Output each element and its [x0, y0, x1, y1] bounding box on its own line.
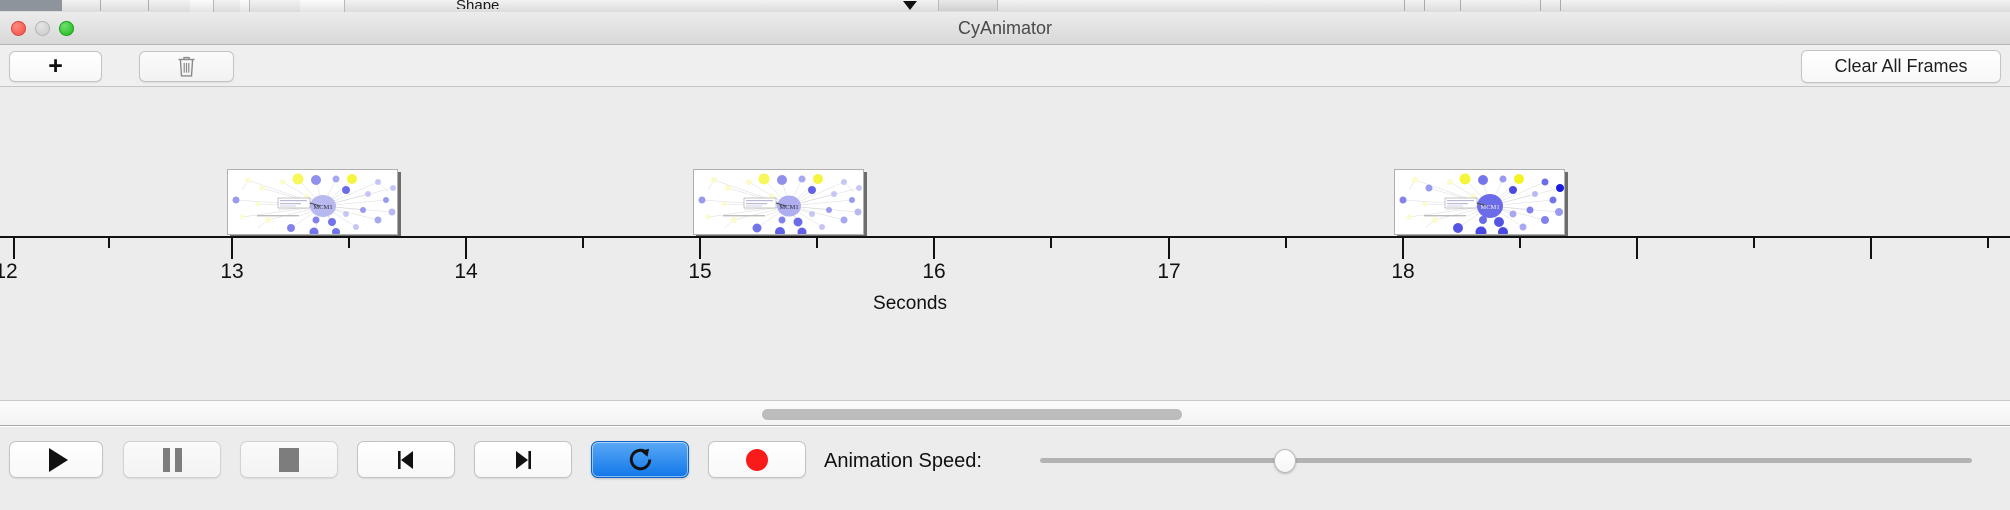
axis-tick-minor: [348, 238, 350, 248]
background-window-text: Shape: [456, 0, 499, 9]
axis-tick-minor: [1285, 238, 1287, 248]
background-divider: [148, 0, 149, 11]
add-frame-button[interactable]: +: [9, 51, 102, 82]
timeline-horizontal-scrollbar[interactable]: [0, 400, 2010, 426]
clear-all-frames-label: Clear All Frames: [1834, 56, 1967, 77]
scrollbar-thumb[interactable]: [762, 409, 1182, 420]
background-tab: [240, 0, 250, 12]
background-dark-chip: [0, 0, 62, 11]
timeline-frame-thumbnail[interactable]: MCM1: [227, 169, 398, 235]
svg-text:MCM1: MCM1: [779, 204, 798, 211]
axis-tick-minor: [1519, 238, 1521, 248]
axis-tick-major: [1870, 238, 1872, 259]
axis-tick-major: [1636, 238, 1638, 259]
axis-tick-label: 12: [0, 260, 18, 284]
background-divider: [1404, 0, 1405, 11]
background-chip: [938, 0, 998, 11]
skip-forward-icon: [511, 448, 535, 472]
animation-speed-slider[interactable]: [1040, 441, 1972, 478]
background-divider: [1424, 0, 1425, 11]
network-graph-thumbnail: MCM1: [694, 170, 864, 235]
axis-tick-label: 13: [220, 260, 243, 284]
stop-icon: [279, 448, 299, 472]
background-tab: [190, 0, 214, 12]
skip-to-start-button[interactable]: [357, 441, 455, 478]
loop-icon: [627, 446, 654, 473]
background-divider: [1540, 0, 1541, 11]
axis-tick-major: [231, 238, 233, 259]
timeline-frame-thumbnail[interactable]: MCM1: [693, 169, 864, 235]
clear-all-frames-button[interactable]: Clear All Frames: [1801, 50, 2001, 83]
record-button[interactable]: [708, 441, 806, 478]
plus-icon: +: [48, 54, 63, 79]
axis-tick-minor: [1753, 238, 1755, 248]
axis-tick-minor: [582, 238, 584, 248]
axis-tick-label: 16: [922, 260, 945, 284]
axis-tick-major: [1168, 238, 1170, 259]
skip-back-icon: [394, 448, 418, 472]
frame-toolbar: + Clear All Frames: [0, 45, 2010, 87]
axis-tick-major: [1402, 238, 1404, 259]
background-window-strip: Shape: [0, 0, 2010, 12]
pause-button[interactable]: [123, 441, 221, 478]
window-titlebar[interactable]: CyAnimator: [0, 12, 2010, 45]
pause-icon: [163, 448, 182, 472]
background-divider: [1460, 0, 1461, 11]
skip-to-end-button[interactable]: [474, 441, 572, 478]
trash-icon: [177, 55, 196, 78]
axis-tick-major: [13, 238, 15, 259]
timeline-content: MCM1: [0, 87, 2010, 400]
record-icon: [746, 449, 768, 471]
background-divider: [100, 0, 101, 11]
slider-track: [1040, 458, 1972, 463]
axis-tick-minor: [108, 238, 110, 248]
animation-speed-label: Animation Speed:: [824, 450, 982, 473]
background-caret-icon: [903, 1, 917, 10]
axis-tick-major: [699, 238, 701, 259]
timeline-frame-thumbnail[interactable]: MCM1: [1394, 169, 1565, 235]
axis-tick-minor: [1987, 238, 1989, 248]
axis-tick-minor: [816, 238, 818, 248]
axis-tick-major: [933, 238, 935, 259]
delete-frame-button[interactable]: [139, 51, 234, 82]
axis-tick-label: 18: [1391, 260, 1414, 284]
background-divider: [1560, 0, 1561, 11]
axis-tick-label: 14: [454, 260, 477, 284]
axis-tick-major: [465, 238, 467, 259]
loop-button[interactable]: [591, 441, 689, 478]
axis-title: Seconds: [0, 293, 1820, 315]
axis-tick-minor: [1050, 238, 1052, 248]
network-graph-thumbnail: MCM1: [228, 170, 398, 235]
axis-tick-label: 17: [1157, 260, 1180, 284]
play-icon: [49, 448, 68, 472]
slider-thumb[interactable]: [1274, 449, 1296, 473]
play-button[interactable]: [9, 441, 103, 478]
window-title: CyAnimator: [0, 12, 2010, 45]
playback-control-bar: Animation Speed:: [0, 427, 2010, 510]
stop-button[interactable]: [240, 441, 338, 478]
axis-tick-label: 15: [688, 260, 711, 284]
timeline-axis-line: [0, 236, 2010, 238]
network-graph-thumbnail: MCM1: [1395, 170, 1565, 235]
svg-text:MCM1: MCM1: [313, 204, 332, 211]
svg-text:MCM1: MCM1: [1480, 204, 1499, 211]
timeline-panel[interactable]: MCM1: [0, 87, 2010, 400]
background-tab: [300, 0, 345, 12]
